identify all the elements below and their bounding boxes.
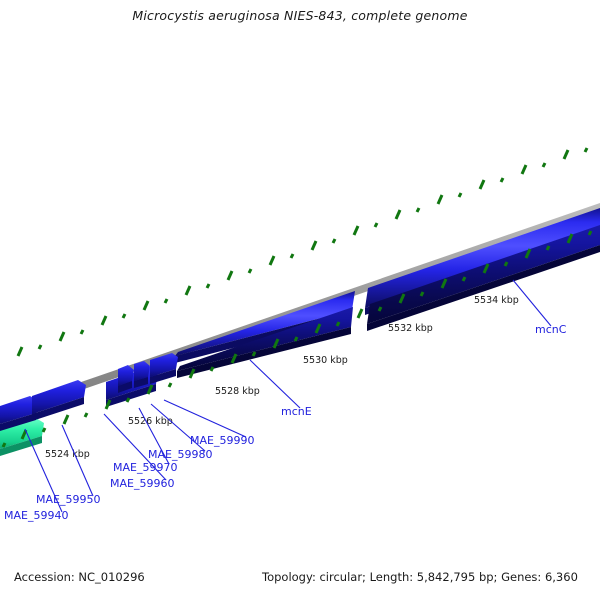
gene-box-mae-59980[interactable] xyxy=(134,361,150,388)
genome-map-svg: 5524 kbp 5526 kbp 5528 kbp 5530 kbp 5532… xyxy=(0,0,600,600)
feature-bar-lower xyxy=(177,225,600,378)
feature-bar-upper xyxy=(175,208,600,363)
status-bar: Accession: NC_010296 Topology: circular;… xyxy=(0,570,600,586)
gene-label-mcnc[interactable]: mcnC xyxy=(535,323,567,336)
scale-label-5528: 5528 kbp xyxy=(215,386,260,397)
gene-label-group: MAE_59940 MAE_59950 MAE_59960 MAE_59970 … xyxy=(4,323,567,522)
gene-label-mae-59950[interactable]: MAE_59950 xyxy=(36,493,100,506)
gene-label-mae-59990[interactable]: MAE_59990 xyxy=(190,434,254,447)
gene-box-mae-59950[interactable] xyxy=(32,380,86,421)
scale-label-5532: 5532 kbp xyxy=(388,323,433,334)
leader-mae-59950 xyxy=(62,425,93,496)
gene-label-mae-59970[interactable]: MAE_59970 xyxy=(113,461,177,474)
scale-label-5524: 5524 kbp xyxy=(45,449,90,460)
scale-label-5534: 5534 kbp xyxy=(474,295,519,306)
scale-label-5530: 5530 kbp xyxy=(303,355,348,366)
gene-label-mcne[interactable]: mcnE xyxy=(281,405,312,418)
gene-label-mae-59960[interactable]: MAE_59960 xyxy=(110,477,174,490)
leader-mcne xyxy=(250,360,300,408)
genome-diagram-canvas: Microcystis aeruginosa NIES-843, complet… xyxy=(0,0,600,600)
accession-text: Accession: NC_010296 xyxy=(14,570,145,584)
gene-label-mae-59980[interactable]: MAE_59980 xyxy=(148,448,212,461)
leader-mae-59990 xyxy=(164,400,246,437)
gene-label-mae-59940[interactable]: MAE_59940 xyxy=(4,509,68,522)
topology-text: Topology: circular; Length: 5,842,795 bp… xyxy=(262,570,578,584)
